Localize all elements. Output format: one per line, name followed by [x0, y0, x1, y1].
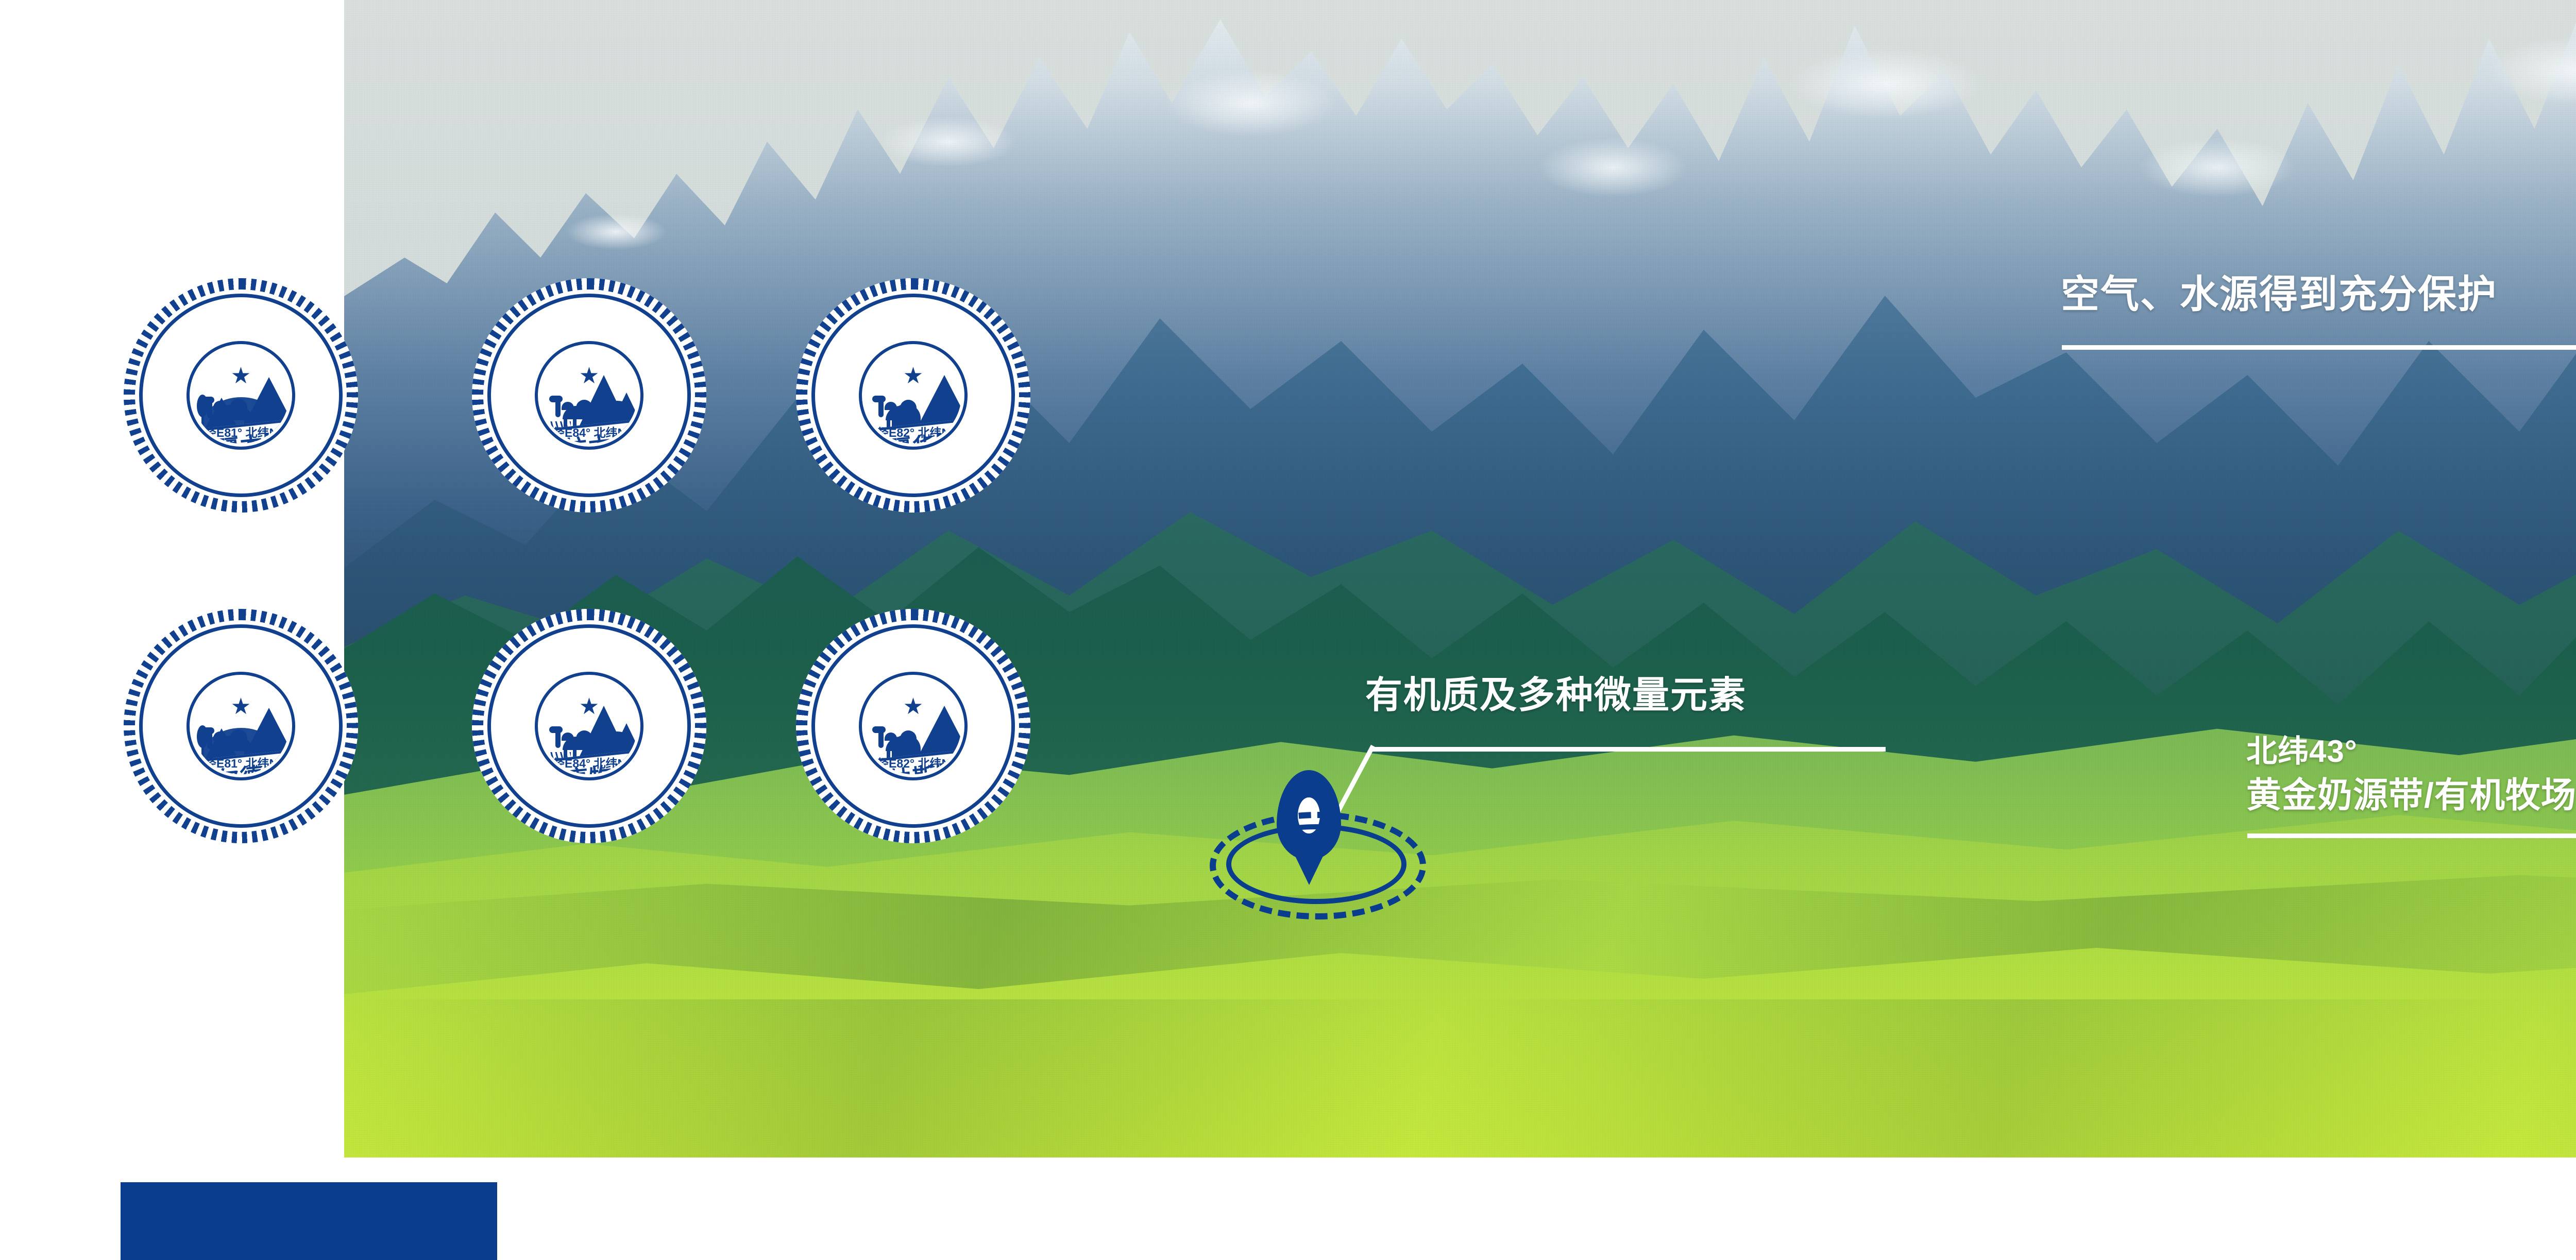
camel-head-icon — [872, 396, 886, 402]
callout-air-water-rule — [2062, 345, 2576, 350]
badge-seal[interactable]: ★ 新疆华盟牧业 东经E82° 北纬N42° — [796, 278, 1030, 513]
badge-coordinates: 东经E84° 北纬N43° — [541, 423, 637, 440]
camel-hump-front-icon — [885, 733, 897, 741]
badge-face: ★ 新疆本源牧业 东经E81° 北纬N42° — [193, 347, 289, 444]
camel-hump-back-icon — [900, 400, 917, 410]
badge-face: ★ 新疆华盟牧业 东经E82° 北纬N42° — [865, 347, 961, 444]
camel-head-icon — [872, 726, 886, 733]
badge-coordinates: 东经E82° 北纬N42° — [865, 423, 961, 440]
badge-coordinates: 东经E81° 北纬N42° — [193, 423, 289, 440]
pin-ring-dashed — [1210, 812, 1426, 920]
badge-coordinates: 东经E84° 北纬N43° — [541, 754, 637, 771]
poster-canvas: ★ 新疆本源牧业 东经E81° 北纬N42° — [0, 0, 2576, 1260]
camel-hump-back-icon — [900, 730, 917, 741]
callout-organic-matter: 有机质及多种微量元素 — [1200, 659, 1819, 891]
badge-seal[interactable]: ★ 库尔德宁牧区 东经E81° 北纬N42° — [124, 609, 358, 843]
callout-air-water: 空气、水源得到充分保护 — [2056, 258, 2576, 546]
camel-hump-front-icon — [562, 733, 574, 741]
camel-head-icon — [549, 396, 563, 402]
callout-golden-milk-belt-rule — [2247, 833, 2576, 838]
callout-organic-matter-rule — [1370, 747, 1886, 752]
badge-face: ★ 库尔德宁牧区 东经E81° 北纬N42° — [193, 678, 289, 774]
badge-face: ★ 玛纳斯牧场 东经E82° 北纬N42° — [865, 678, 961, 774]
badge-face: ★ 那拉木齐牧区 海拔1387.68米 东经E84° 北纬N43° — [541, 347, 637, 444]
badge-seal[interactable]: ★ 那拉木齐牧区 海拔1387.68米 东经E84° 北纬N43° — [472, 278, 706, 513]
badge-seal[interactable]: ★ 新疆本源牧业 东经E81° 北纬N42° — [124, 278, 358, 513]
badge-coordinates: 东经E81° 北纬N42° — [193, 754, 289, 771]
badge-face: ★ 阜康牧场 海拔1387.68米 东经E84° 北纬N43° — [541, 678, 637, 774]
badge-seal[interactable]: ★ 玛纳斯牧场 东经E82° 北纬N42° — [796, 609, 1030, 843]
camel-hump-front-icon — [885, 402, 897, 410]
camel-head-icon — [201, 727, 214, 734]
badge-coordinates: 东经E82° 北纬N42° — [865, 754, 961, 771]
left-white-panel — [0, 0, 344, 1157]
bottom-blue-bar — [121, 1182, 497, 1260]
camel-head-icon — [549, 726, 563, 733]
camel-hump-front-icon — [562, 402, 574, 410]
callout-golden-milk-belt-label: 黄金奶源带/有机牧场 — [2246, 767, 2576, 818]
callout-air-water-label: 空气、水源得到充分保护 — [2061, 263, 2497, 319]
badge-seal[interactable]: ★ 阜康牧场 海拔1387.68米 东经E84° 北纬N43° — [472, 609, 706, 843]
callout-latitude-label: 北纬43° — [2246, 726, 2358, 771]
callout-golden-milk-belt: 北纬43° 黄金奶源带/有机牧场 — [2241, 726, 2576, 1035]
camel-head-icon — [201, 397, 214, 403]
callout-organic-matter-label: 有机质及多种微量元素 — [1365, 665, 1747, 719]
